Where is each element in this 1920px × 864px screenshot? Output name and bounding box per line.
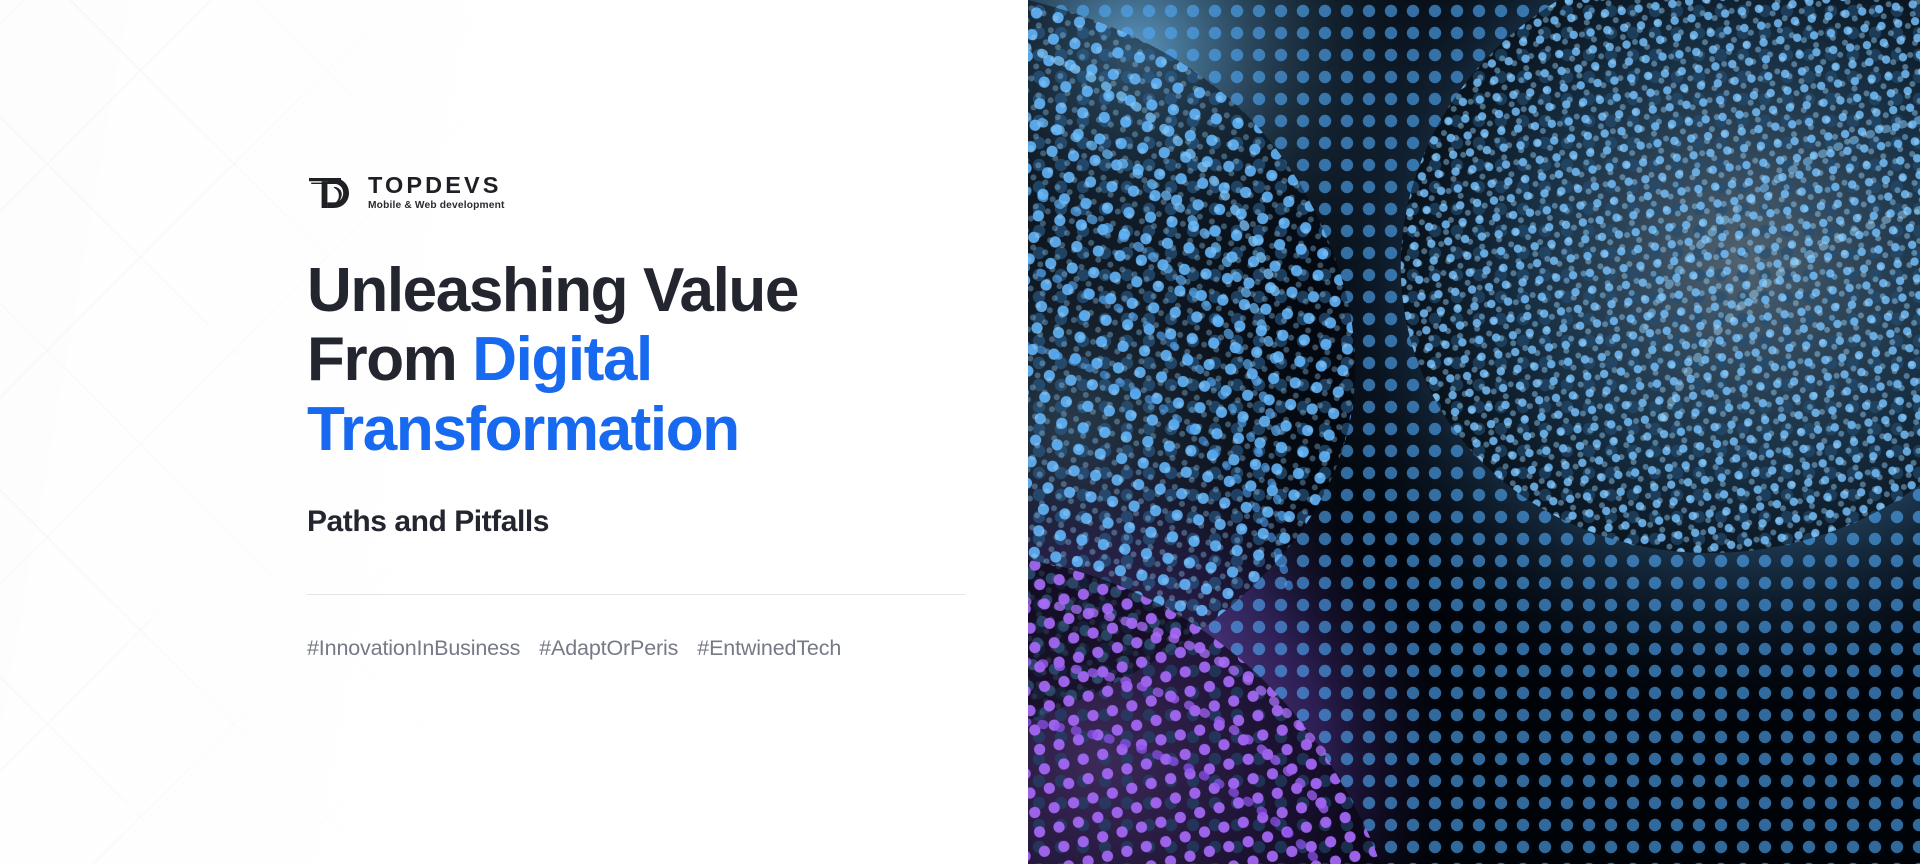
content-block: TOPDEVS Mobile & Web development Unleash… — [307, 172, 967, 663]
headline-line-2-plain: From — [307, 325, 472, 394]
hashtag-list: #InnovationInBusiness #AdaptOrPeris #Ent… — [307, 635, 967, 663]
hashtag-item[interactable]: #InnovationInBusiness — [307, 635, 520, 663]
td-monogram-icon — [307, 172, 359, 212]
headline-line-3-accent: Transformation — [307, 395, 739, 464]
page-title: Unleashing Value From Digital Transforma… — [307, 256, 927, 464]
brand-logo[interactable]: TOPDEVS Mobile & Web development — [307, 172, 967, 212]
logo-wordmark: TOPDEVS — [368, 174, 505, 198]
headline-line-1: Unleashing Value — [307, 256, 798, 325]
hero-artwork-panel — [1028, 0, 1920, 864]
abstract-dot-matrix-icon — [1028, 0, 1920, 864]
headline-line-2-accent: Digital — [472, 325, 652, 394]
hashtag-item[interactable]: #EntwinedTech — [697, 635, 841, 663]
logo-tagline: Mobile & Web development — [368, 201, 505, 211]
left-content-panel: TOPDEVS Mobile & Web development Unleash… — [0, 0, 1028, 864]
logo-text-lockup: TOPDEVS Mobile & Web development — [368, 173, 505, 212]
subtitle: Paths and Pitfalls — [307, 504, 967, 540]
hashtag-item[interactable]: #AdaptOrPeris — [539, 635, 678, 663]
presentation-slide: TOPDEVS Mobile & Web development Unleash… — [0, 0, 1920, 864]
section-divider — [307, 594, 965, 595]
